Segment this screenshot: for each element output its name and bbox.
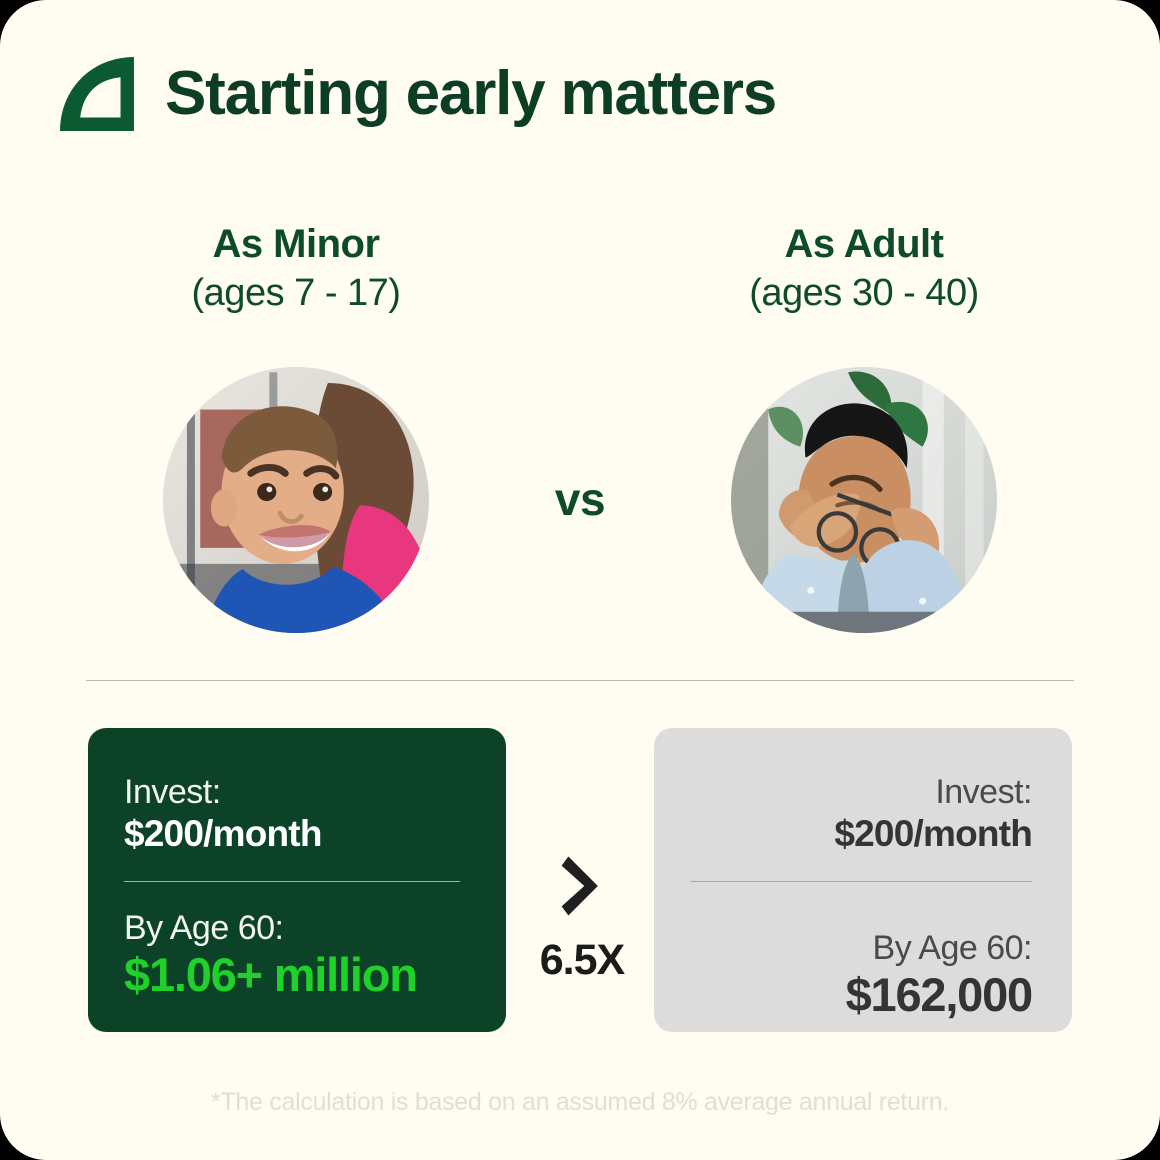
infographic-page: Starting early matters As Minor (ages 7 … (0, 0, 1160, 1160)
multiplier-value: 6.5X (492, 936, 672, 985)
multiplier-block: 6.5X (492, 852, 672, 985)
invest-value-adult: $200/month (690, 812, 1032, 856)
invest-label-minor: Invest: (124, 772, 470, 812)
chevron-right-icon (559, 852, 605, 920)
column-header-minor: As Minor (ages 7 - 17) (86, 222, 506, 316)
quarter-circle-logo-icon (55, 52, 139, 136)
result-label-adult: By Age 60: (690, 928, 1032, 968)
invest-value-minor: $200/month (124, 812, 470, 856)
photo-smiling-boy-art (163, 367, 429, 633)
section-divider (86, 680, 1074, 681)
result-value-minor: $1.06+ million (124, 948, 470, 1002)
result-card-adult: Invest: $200/month By Age 60: $162,000 (654, 728, 1072, 1032)
photo-smiling-boy (163, 367, 429, 633)
card-spacer-minor (124, 882, 470, 908)
footnote: *The calculation is based on an assumed … (0, 1088, 1160, 1117)
photo-stressed-man-art (731, 367, 997, 633)
page-title: Starting early matters (165, 63, 776, 125)
column-title-adult: As Adult (654, 222, 1074, 266)
card-spacer-adult (690, 882, 1032, 928)
invest-label-adult: Invest: (690, 772, 1032, 812)
column-header-adult: As Adult (ages 30 - 40) (654, 222, 1074, 316)
result-card-minor: Invest: $200/month By Age 60: $1.06+ mil… (88, 728, 506, 1032)
result-label-minor: By Age 60: (124, 908, 470, 948)
column-title-minor: As Minor (86, 222, 506, 266)
result-value-adult: $162,000 (690, 968, 1032, 1022)
column-subtitle-adult: (ages 30 - 40) (654, 272, 1074, 316)
photo-stressed-man (731, 367, 997, 633)
vs-label: vs (480, 472, 680, 526)
header: Starting early matters (55, 52, 776, 136)
column-subtitle-minor: (ages 7 - 17) (86, 272, 506, 316)
